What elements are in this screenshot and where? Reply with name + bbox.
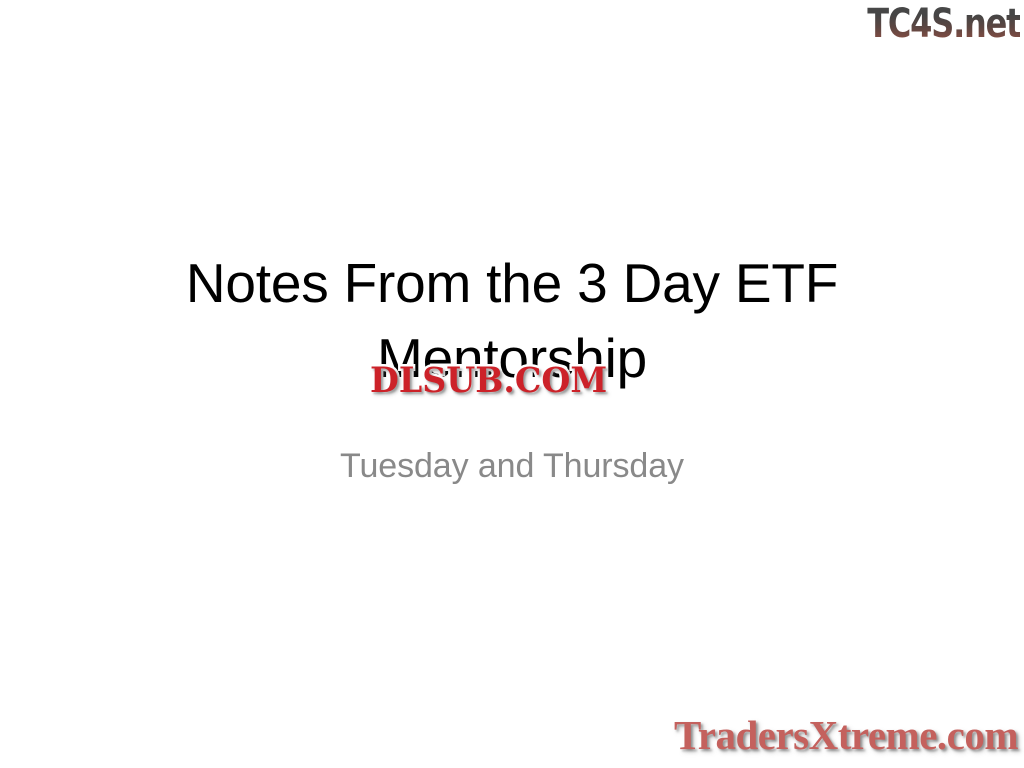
page-subtitle: Tuesday and Thursday bbox=[120, 443, 904, 489]
watermark-tc4s: TC4S.net bbox=[867, 2, 1020, 46]
presentation-slide: TC4S.net Notes From the 3 Day ETF Mentor… bbox=[0, 0, 1024, 768]
watermark-dlsub: DLSUB.COM bbox=[370, 360, 607, 402]
subtitle-placeholder: Tuesday and Thursday bbox=[120, 443, 904, 489]
watermark-tradersxtreme: TradersXtreme.com bbox=[674, 712, 1018, 758]
